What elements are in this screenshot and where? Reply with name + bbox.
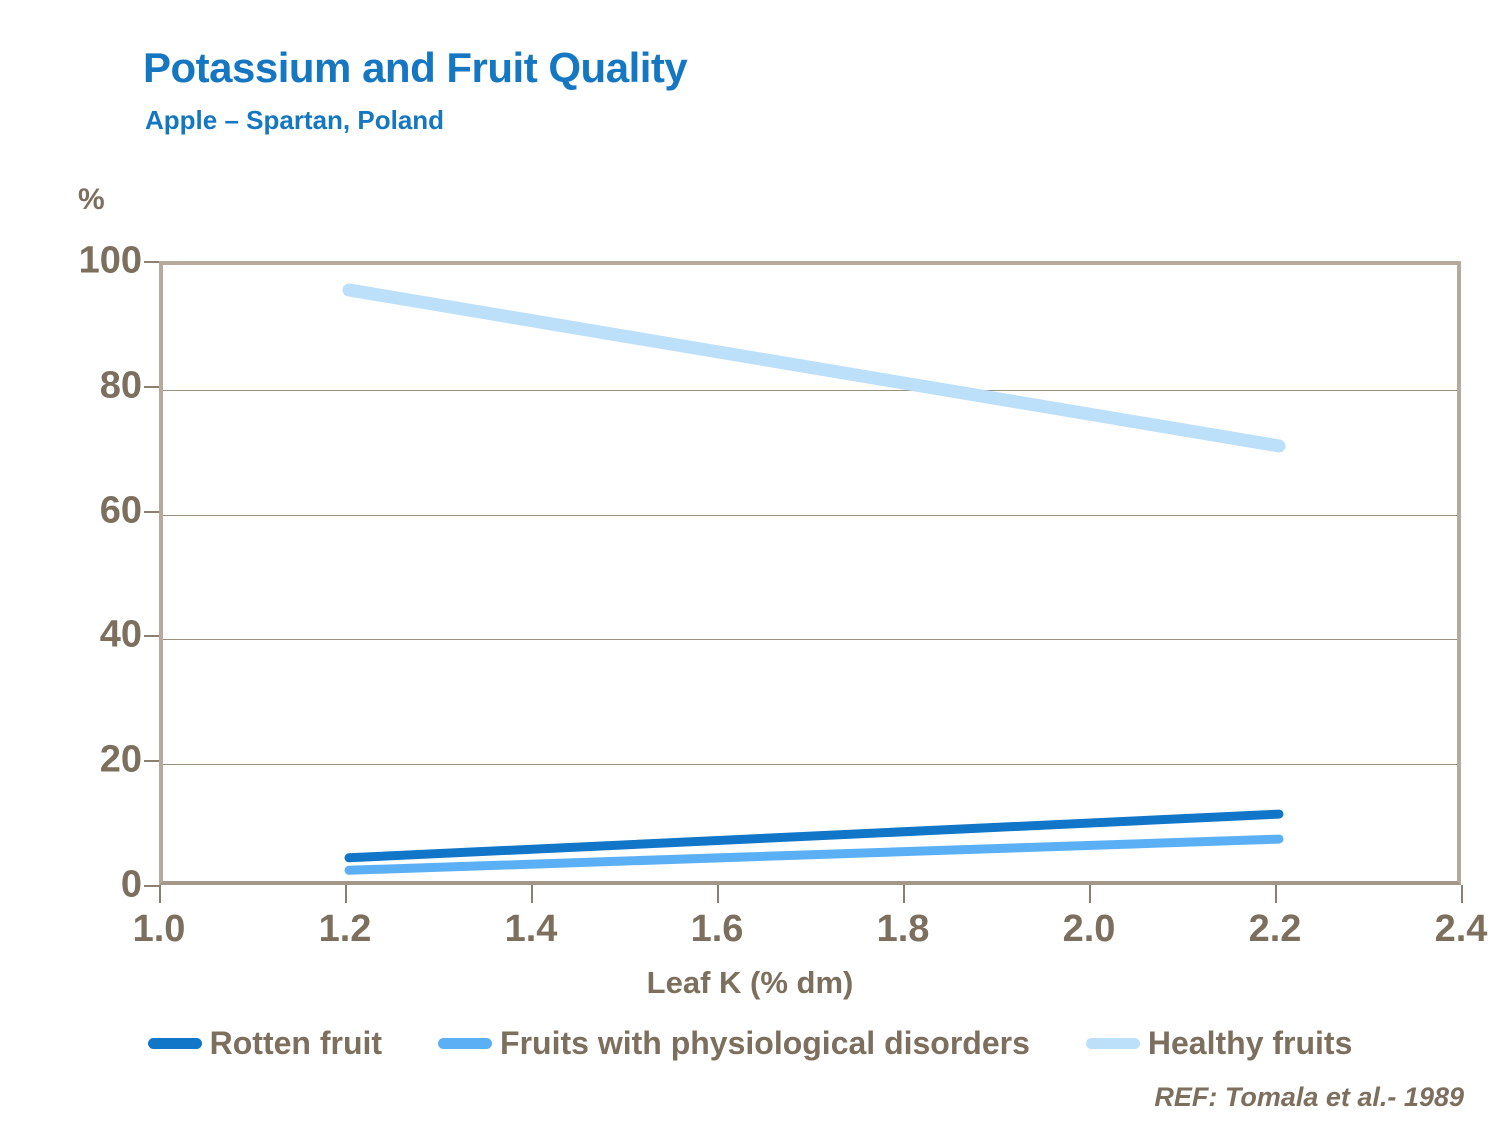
chart-subtitle: Apple – Spartan, Poland [145, 105, 444, 136]
y-axis-tick-label: 80 [100, 364, 142, 407]
x-axis-tick-label: 2.2 [1249, 908, 1302, 951]
y-axis-tick [144, 511, 159, 513]
reference-note: REF: Tomala et al.- 1989 [1154, 1082, 1464, 1113]
y-axis-tick [144, 386, 159, 388]
y-axis-tick-label: 100 [79, 240, 142, 283]
chart-legend: Rotten fruitFruits with physiological di… [0, 1025, 1500, 1062]
y-axis-tick [144, 760, 159, 762]
series-line [349, 290, 1279, 446]
chart-title: Potassium and Fruit Quality [143, 44, 687, 92]
legend-swatch-icon [1086, 1038, 1140, 1049]
x-axis-tick [159, 885, 161, 903]
legend-swatch-icon [438, 1038, 492, 1049]
x-axis-tick-label: 1.2 [319, 908, 372, 951]
x-axis-tick [1461, 885, 1463, 903]
x-axis-tick [1089, 885, 1091, 903]
y-axis-tick [144, 635, 159, 637]
x-axis-tick [1275, 885, 1277, 903]
x-axis-tick-label: 2.4 [1435, 908, 1488, 951]
legend-item[interactable]: Rotten fruit [148, 1025, 382, 1062]
x-axis-tick-label: 2.0 [1063, 908, 1116, 951]
y-axis-tick [144, 261, 159, 263]
series-lines [163, 265, 1465, 889]
x-axis-tick-label: 1.8 [877, 908, 930, 951]
y-axis-tick-label: 60 [100, 489, 142, 532]
x-axis-tick [345, 885, 347, 903]
legend-label: Fruits with physiological disorders [500, 1025, 1030, 1062]
x-axis-tick [903, 885, 905, 903]
y-axis-tick-label: 0 [121, 864, 142, 907]
legend-item[interactable]: Healthy fruits [1086, 1025, 1352, 1062]
x-axis-title: Leaf K (% dm) [0, 965, 1500, 1001]
legend-label: Healthy fruits [1148, 1025, 1352, 1062]
x-axis-tick [717, 885, 719, 903]
x-axis-tick-label: 1.6 [691, 908, 744, 951]
plot-area [159, 261, 1461, 885]
legend-item[interactable]: Fruits with physiological disorders [438, 1025, 1030, 1062]
x-axis-tick-label: 1.0 [133, 908, 186, 951]
y-axis-tick-label: 40 [100, 614, 142, 657]
legend-label: Rotten fruit [210, 1025, 382, 1062]
x-axis-tick [531, 885, 533, 903]
y-axis-tick-label: 20 [100, 739, 142, 782]
x-axis-tick-label: 1.4 [505, 908, 558, 951]
y-axis-unit-label: % [78, 183, 105, 217]
y-axis-tick [144, 885, 159, 887]
legend-swatch-icon [148, 1038, 202, 1049]
